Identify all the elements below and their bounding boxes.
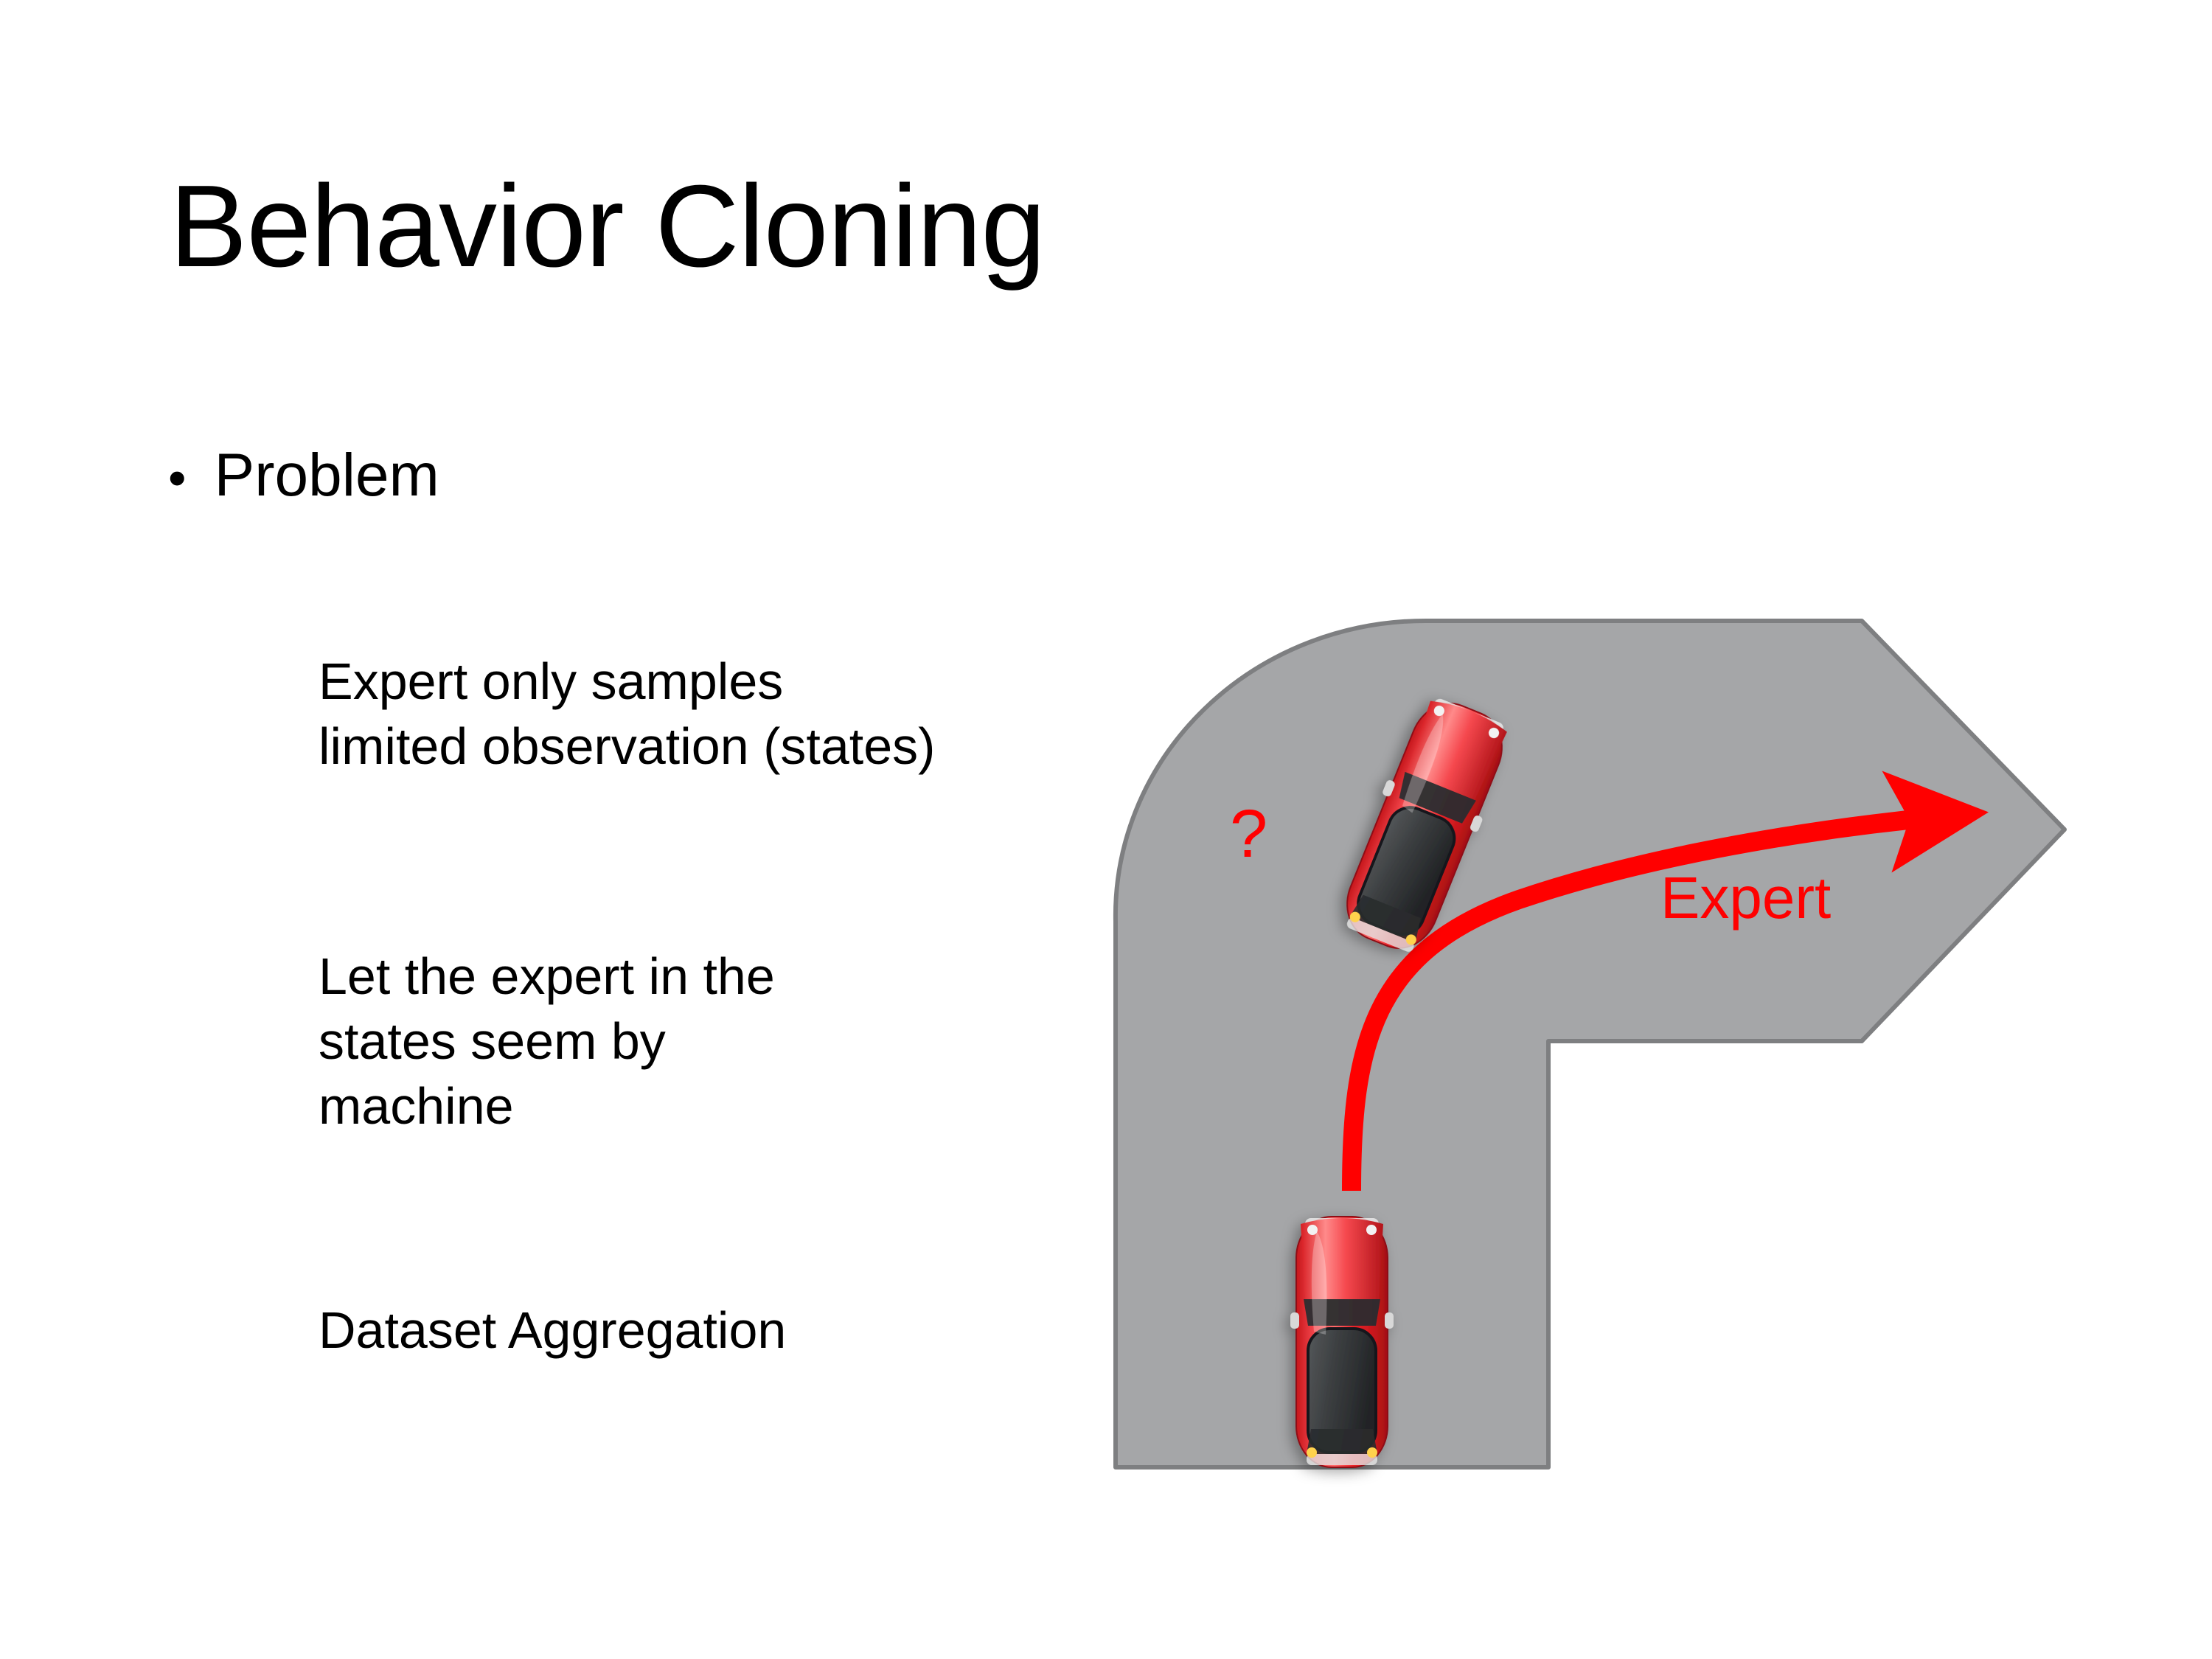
page-title: Behavior Cloning	[170, 168, 1045, 285]
slide-canvas: Behavior Cloning • Problem Expert only s…	[0, 0, 2212, 1659]
body-text-dataset-aggregation: Dataset Aggregation	[319, 1298, 1019, 1363]
body-text-let-expert: Let the expert in the states seem by mac…	[319, 944, 982, 1139]
uncertainty-question-mark: ?	[1230, 800, 1267, 868]
bullet-item-problem: • Problem	[168, 442, 439, 509]
expert-trajectory-label: Expert	[1660, 869, 1831, 928]
bullet-marker-icon: •	[168, 452, 187, 504]
bullet-label: Problem	[215, 442, 439, 509]
road-turn-diagram	[1106, 605, 2079, 1489]
road-surface	[1116, 621, 2065, 1467]
body-text-expert-samples: Expert only samples limited observation …	[319, 649, 1189, 779]
on-trajectory-car	[1290, 1217, 1394, 1467]
